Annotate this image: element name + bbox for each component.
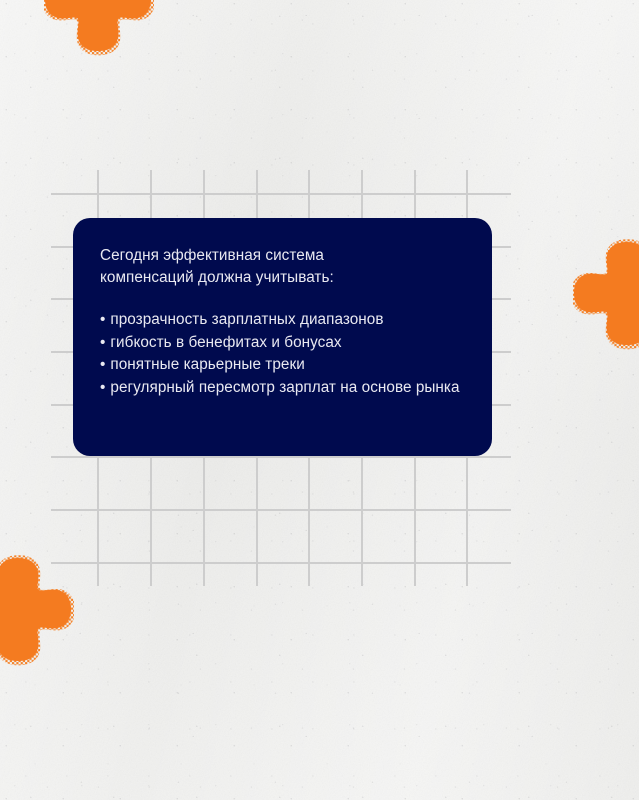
grid-line-horizontal-0	[51, 193, 511, 195]
bullet-text: регулярный пересмотр зарплат на основе р…	[110, 379, 459, 396]
grid-line-horizontal-5	[51, 456, 511, 458]
bullet-marker-icon: •	[100, 356, 105, 373]
grid-line-horizontal-6	[51, 509, 511, 511]
bullet-marker-icon: •	[100, 311, 105, 328]
bullet-text: прозрачность зарплатных диапазонов	[110, 311, 383, 328]
bullet-item: •регулярный пересмотр зарплат на основе …	[100, 377, 462, 400]
right-star-blob-decoration	[573, 238, 639, 350]
bullet-item: •понятные карьерные треки	[100, 354, 462, 377]
grid-line-horizontal-7	[51, 562, 511, 564]
bullet-marker-icon: •	[100, 379, 105, 396]
top-star-blob-decoration	[44, 0, 154, 56]
bullet-text: гибкость в бенефитах и бонусах	[110, 334, 341, 351]
bullet-item: •прозрачность зарплатных диапазонов	[100, 309, 462, 332]
bottom-left-star-blob-decoration	[0, 554, 74, 666]
bullet-item: •гибкость в бенефитах и бонусах	[100, 332, 462, 355]
slide-canvas: Сегодня эффективная система компенсаций …	[0, 0, 639, 800]
requirements-bullet-list: •прозрачность зарплатных диапазонов•гибк…	[100, 309, 462, 399]
card-heading: Сегодня эффективная система компенсаций …	[100, 245, 462, 288]
content-card: Сегодня эффективная система компенсаций …	[73, 218, 492, 456]
bullet-marker-icon: •	[100, 334, 105, 351]
bullet-text: понятные карьерные треки	[110, 356, 304, 373]
